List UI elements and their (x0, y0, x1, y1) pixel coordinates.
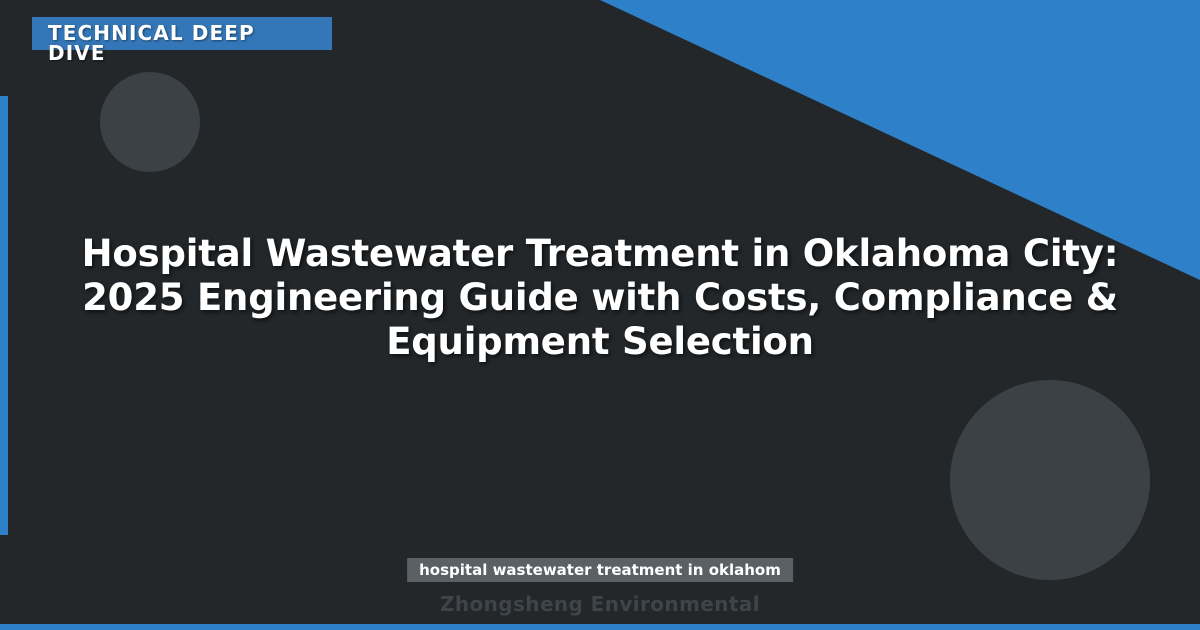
decorative-circle-large (950, 380, 1150, 580)
hero-title-block: Hospital Wastewater Treatment in Oklahom… (60, 232, 1140, 364)
brand-name: Zhongsheng Environmental (0, 592, 1200, 616)
category-badge: TECHNICAL DEEP DIVE (32, 17, 332, 50)
left-accent-rail (0, 96, 8, 535)
keyword-tag: hospital wastewater treatment in oklahom (407, 558, 793, 582)
bottom-accent-rail (0, 624, 1200, 630)
page-title: Hospital Wastewater Treatment in Oklahom… (60, 232, 1140, 364)
decorative-circle-small (100, 72, 200, 172)
social-card: TECHNICAL DEEP DIVE Hospital Wastewater … (0, 0, 1200, 630)
